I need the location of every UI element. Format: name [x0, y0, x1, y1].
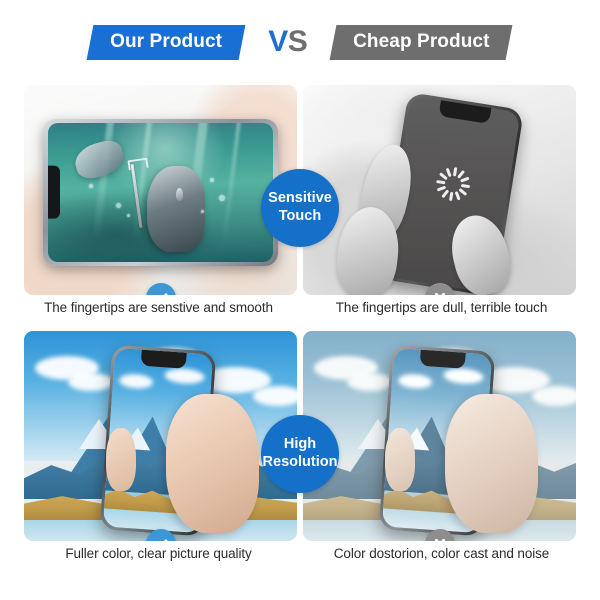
- phone-screen-game: [48, 123, 273, 262]
- badge-line-1: High: [284, 436, 316, 454]
- cheap-product-ribbon: Cheap Product: [330, 25, 513, 60]
- our-product-ribbon: Our Product: [87, 25, 246, 60]
- cheap-product-touch-photo: [303, 85, 576, 295]
- badge-line-1: Sensitive: [268, 190, 332, 208]
- thumb: [385, 428, 415, 491]
- header-banner: Our Product VS Cheap Product: [0, 0, 600, 84]
- vs-s-letter: S: [288, 25, 308, 58]
- our-product-label: Our Product: [110, 32, 222, 52]
- phone-notch: [48, 166, 60, 219]
- phone-notch: [438, 100, 491, 124]
- cheap-product-touch-caption: The fingertips are dull, terrible touch: [305, 299, 578, 317]
- phone-notch: [419, 349, 465, 368]
- comparison-row-sensitive-touch: Sensitive Touch The fingertips are senst…: [24, 85, 576, 331]
- our-product-resolution-caption: Fuller color, clear picture quality: [22, 545, 295, 563]
- our-product-resolution-photo: [24, 331, 297, 541]
- cheap-product-resolution-photo: [303, 331, 576, 541]
- high-resolution-badge: High Resolution: [261, 415, 339, 493]
- landscape-phone: [43, 119, 278, 266]
- comparison-grid: Sensitive Touch The fingertips are senst…: [24, 85, 576, 577]
- comparison-row-high-resolution: High Resolution Fuller color, clear pict…: [24, 331, 576, 577]
- badge-line-2: Resolution: [263, 454, 338, 472]
- holding-hand: [166, 394, 259, 533]
- phone-notch: [140, 349, 186, 368]
- loading-spinner-icon: [434, 164, 473, 203]
- our-product-touch-photo: [24, 85, 297, 295]
- comparison-infographic: Our Product VS Cheap Product: [0, 0, 600, 600]
- vs-v-letter: V: [268, 25, 288, 58]
- thumb: [106, 428, 136, 491]
- badge-line-2: Touch: [279, 208, 321, 226]
- cheap-product-resolution-caption: Color dostorion, color cast and noise: [305, 545, 578, 563]
- vs-label: VS: [268, 27, 307, 57]
- cheap-product-label: Cheap Product: [353, 32, 489, 52]
- our-product-touch-caption: The fingertips are senstive and smooth: [22, 299, 295, 317]
- holding-hand: [445, 394, 538, 533]
- sensitive-touch-badge: Sensitive Touch: [261, 169, 339, 247]
- diver-figure: [147, 166, 205, 252]
